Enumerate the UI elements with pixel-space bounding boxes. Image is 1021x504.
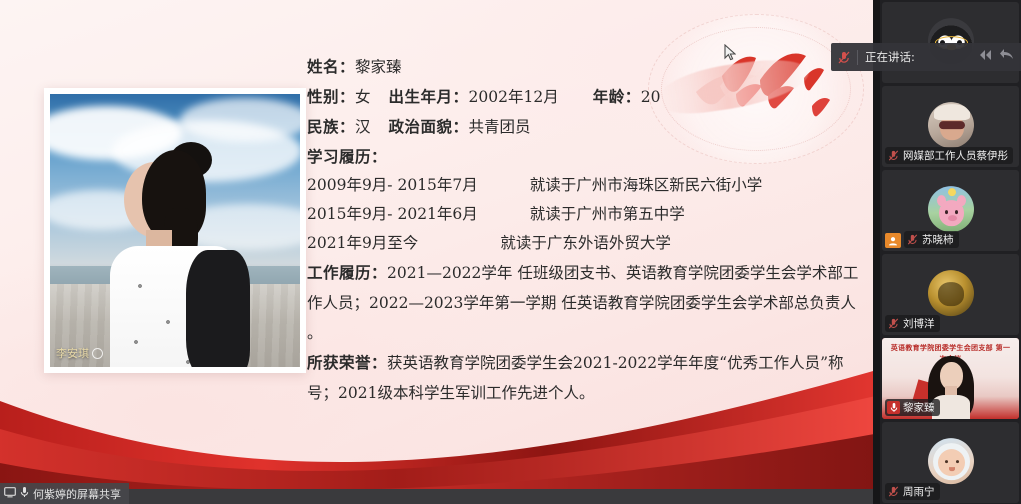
gold-abstract-avatar [928, 270, 974, 316]
pig-cartoon-avatar [928, 186, 974, 232]
microphone-muted-icon [887, 149, 900, 162]
education-heading: 学习履历： [307, 142, 867, 171]
field-gender-value: 女 [355, 88, 371, 106]
host-badge-icon [885, 233, 901, 248]
field-political-value: 共青团员 [469, 118, 531, 136]
participant-name-chip: 刘博洋 [885, 315, 940, 332]
education-school: 就读于广东外语外贸大学 [500, 234, 671, 252]
participant-name-chip: 苏晓柿 [904, 231, 959, 248]
student-photo: 李安琪 [44, 88, 306, 373]
field-name-value: 黎家臻 [355, 58, 402, 76]
work-history-text: 2021—2022学年 任班级团支书、英语教育学院团委学生会学术部工作人员；20… [307, 264, 858, 342]
screen-share-stage[interactable]: 李安琪 姓名：黎家臻 性别：女出生年月：2002年12月年龄：20 民族：汉政治… [0, 0, 880, 504]
participant-name-chip: 网媒部工作人员蔡伊彤 [885, 147, 1013, 164]
participant-name: 苏晓柿 [922, 232, 954, 247]
participant-name: 网媒部工作人员蔡伊彤 [903, 148, 1008, 163]
microphone-active-icon [887, 401, 900, 414]
education-period: 2009年9月- 2015年7月 [307, 176, 478, 194]
participant-name: 刘博洋 [903, 316, 935, 331]
microphone-muted-icon [837, 51, 850, 64]
education-row: 2015年9月- 2021年6月就读于广州市第五中学 [307, 200, 867, 229]
speaking-indicator: 正在讲话: [831, 43, 1021, 71]
speaking-indicator-label: 正在讲话: [865, 49, 915, 65]
chevron-collapse-icon[interactable] [978, 48, 994, 66]
field-age-value: 20 [641, 88, 661, 106]
microphone-muted-icon [887, 317, 900, 330]
baby-photo-avatar [928, 438, 974, 484]
education-period: 2015年9月- 2021年6月 [307, 205, 478, 223]
shared-slide: 李安琪 姓名：黎家臻 性别：女出生年月：2002年12月年龄：20 民族：汉政治… [0, 0, 880, 489]
field-birth-label: 出生年月： [389, 87, 469, 106]
work-history: 工作履历：2021—2022学年 任班级团支书、英语教育学院团委学生会学术部工作… [307, 258, 867, 348]
education-row: 2021年9月至今就读于广东外语外贸大学 [307, 229, 867, 258]
field-ethnicity-political: 民族：汉政治面貌：共青团员 [307, 112, 867, 142]
field-ethnicity-label: 民族： [307, 117, 355, 136]
slide-text-block: 姓名：黎家臻 性别：女出生年月：2002年12月年龄：20 民族：汉政治面貌：共… [307, 52, 867, 408]
participant-tile[interactable]: 刘博洋 [882, 254, 1019, 335]
participant-tile[interactable]: 周雨宁 [882, 422, 1019, 503]
microphone-icon [20, 486, 29, 501]
participant-tile-active-speaker[interactable]: 英语教育学院团委学生会团支部 第一次会议 黎家臻 [882, 338, 1019, 419]
field-name: 姓名：黎家臻 [307, 52, 867, 82]
screen-share-label: 何紫婷的屏幕共享 [0, 483, 129, 504]
field-gender-label: 性别： [307, 87, 355, 106]
sunglasses-photo-avatar [928, 102, 974, 148]
field-gender-birth-age: 性别：女出生年月：2002年12月年龄：20 [307, 82, 867, 112]
participant-name: 周雨宁 [903, 484, 935, 499]
screen-share-owner: 何紫婷的屏幕共享 [33, 486, 121, 502]
education-period: 2021年9月至今 [307, 234, 418, 252]
participant-rail[interactable]: 网媒部工作人员蔡伊彤 苏晓柿 刘博洋 英语教育学院团委学生会 [880, 0, 1021, 504]
education-row: 2009年9月- 2015年7月就读于广州市海珠区新民六街小学 [307, 171, 867, 200]
decorative-red-ribbon [0, 359, 880, 489]
field-political-label: 政治面貌： [389, 117, 469, 136]
microphone-muted-icon [887, 485, 900, 498]
participant-name: 黎家臻 [903, 400, 935, 415]
work-history-label: 工作履历： [307, 263, 387, 282]
participant-name-chip: 黎家臻 [885, 399, 940, 416]
screen-share-icon [4, 487, 16, 501]
field-age-label: 年龄： [593, 87, 641, 106]
back-arrow-icon[interactable] [999, 48, 1015, 66]
screen-share-bar [0, 489, 880, 504]
participant-tile[interactable]: 网媒部工作人员蔡伊彤 [882, 86, 1019, 167]
microphone-muted-icon [906, 233, 919, 246]
participant-name-chip: 周雨宁 [885, 483, 940, 500]
education-school: 就读于广州市第五中学 [530, 205, 685, 223]
participant-tile[interactable]: 苏晓柿 [882, 170, 1019, 251]
field-birth-value: 2002年12月 [469, 88, 559, 106]
watermark-circle-icon [92, 348, 103, 359]
field-ethnicity-value: 汉 [355, 118, 371, 136]
education-school: 就读于广州市海珠区新民六街小学 [530, 176, 763, 194]
field-name-label: 姓名： [307, 57, 355, 76]
